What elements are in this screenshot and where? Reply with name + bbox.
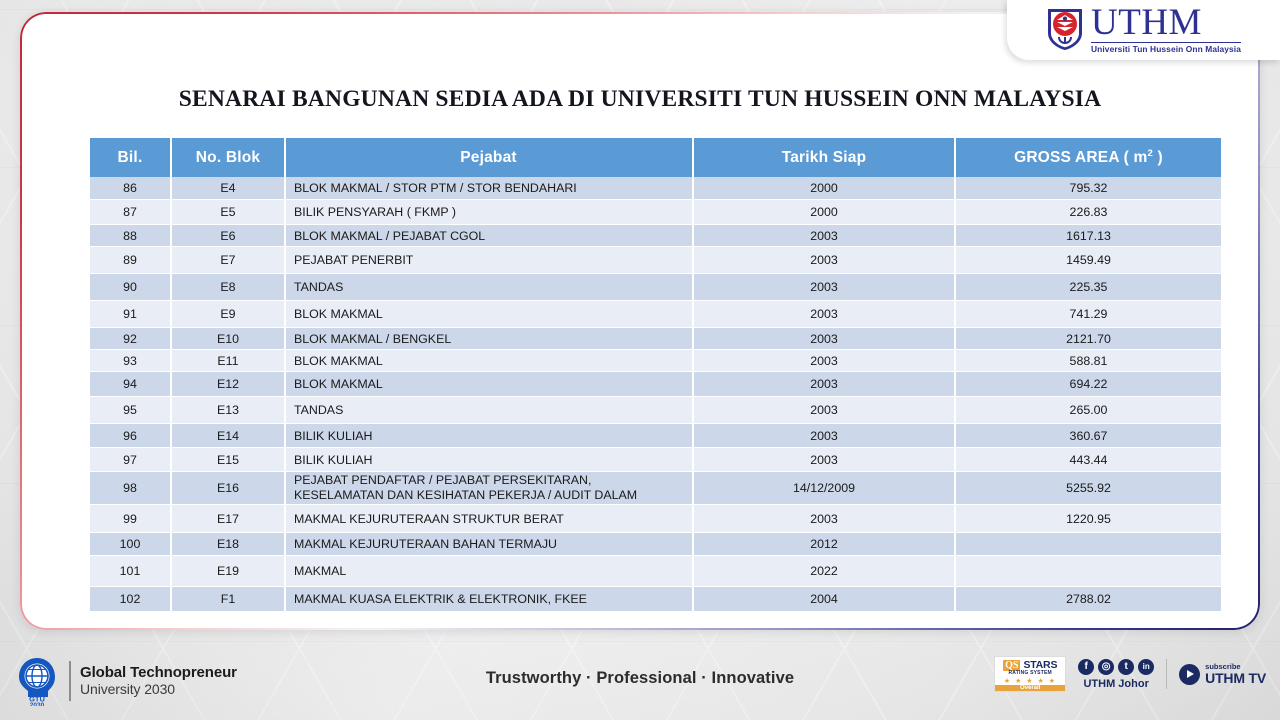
buildings-table: Bil. No. Blok Pejabat Tarikh Siap GROSS … (90, 138, 1221, 612)
cell-bil: 90 (90, 274, 172, 301)
cell-gross-area: 226.83 (956, 200, 1221, 225)
cell-bil: 102 (90, 587, 172, 612)
cell-pejabat: TANDAS (286, 274, 694, 301)
cell-no-blok: E12 (172, 372, 286, 397)
col-header-pejabat: Pejabat (286, 138, 694, 177)
cell-pejabat: BILIK KULIAH (286, 424, 694, 448)
cell-tarikh-siap: 2003 (694, 301, 956, 328)
table-row: 91E9BLOK MAKMAL2003741.29 (90, 301, 1221, 328)
cell-gross-area: 694.22 (956, 372, 1221, 397)
cell-no-blok: E14 (172, 424, 286, 448)
cell-bil: 98 (90, 472, 172, 505)
svg-text:2030: 2030 (30, 702, 45, 706)
cell-gross-area: 225.35 (956, 274, 1221, 301)
uthm-full-name: Universiti Tun Hussein Onn Malaysia (1091, 45, 1241, 53)
facebook-icon[interactable]: f (1078, 659, 1094, 675)
table-row: 94E12BLOK MAKMAL2003694.22 (90, 372, 1221, 397)
page-title: SENARAI BANGUNAN SEDIA ADA DI UNIVERSITI… (20, 86, 1260, 113)
cell-no-blok: E16 (172, 472, 286, 505)
slide-deck-background: SENARAI BANGUNAN SEDIA ADA DI UNIVERSITI… (0, 0, 1280, 720)
cell-tarikh-siap: 2003 (694, 225, 956, 247)
cell-bil: 96 (90, 424, 172, 448)
uthm-wordmark: UTHM (1091, 4, 1241, 41)
cell-pejabat: MAKMAL KEJURUTERAAN BAHAN TERMAJU (286, 533, 694, 556)
cell-gross-area: 5255.92 (956, 472, 1221, 505)
uthm-divider (1091, 42, 1241, 43)
col-header-tarikh-siap: Tarikh Siap (694, 138, 956, 177)
cell-gross-area: 1459.49 (956, 247, 1221, 274)
cell-pejabat: MAKMAL (286, 556, 694, 587)
slide-card: SENARAI BANGUNAN SEDIA ADA DI UNIVERSITI… (20, 12, 1260, 630)
cell-bil: 97 (90, 448, 172, 472)
cell-pejabat: BLOK MAKMAL / PEJABAT CGOL (286, 225, 694, 247)
cell-no-blok: E8 (172, 274, 286, 301)
cell-tarikh-siap: 2003 (694, 448, 956, 472)
cell-pejabat: BLOK MAKMAL (286, 301, 694, 328)
cell-tarikh-siap: 2003 (694, 328, 956, 350)
cell-no-blok: E11 (172, 350, 286, 372)
cell-gross-area: 2121.70 (956, 328, 1221, 350)
table-row: 101E19MAKMAL2022 (90, 556, 1221, 587)
uthm-logo-plate: UTHM Universiti Tun Hussein Onn Malaysia (1007, 0, 1280, 60)
cell-tarikh-siap: 2012 (694, 533, 956, 556)
cell-pejabat: MAKMAL KEJURUTERAAN STRUKTUR BERAT (286, 505, 694, 533)
table-row: 99E17MAKMAL KEJURUTERAAN STRUKTUR BERAT2… (90, 505, 1221, 533)
cell-pejabat: BLOK MAKMAL / STOR PTM / STOR BENDAHARI (286, 177, 694, 200)
buildings-table-wrapper: Bil. No. Blok Pejabat Tarikh Siap GROSS … (90, 138, 1212, 612)
instagram-icon[interactable]: ◎ (1098, 659, 1114, 675)
cell-gross-area: 443.44 (956, 448, 1221, 472)
uthm-tv-block[interactable]: subscribe UTHM TV (1179, 663, 1266, 686)
cell-pejabat: BLOK MAKMAL (286, 372, 694, 397)
table-row: 95E13TANDAS2003265.00 (90, 397, 1221, 424)
social-handle-label: UTHM Johor (1083, 678, 1148, 690)
qs-star-glyphs: ★ ★ ★ ★ ★ (1004, 677, 1057, 685)
cell-no-blok: E19 (172, 556, 286, 587)
cell-no-blok: E6 (172, 225, 286, 247)
cell-no-blok: F1 (172, 587, 286, 612)
cell-gross-area: 1220.95 (956, 505, 1221, 533)
table-body: 86E4BLOK MAKMAL / STOR PTM / STOR BENDAH… (90, 177, 1221, 612)
cell-no-blok: E17 (172, 505, 286, 533)
cell-gross-area (956, 556, 1221, 587)
cell-tarikh-siap: 2003 (694, 505, 956, 533)
cell-gross-area: 741.29 (956, 301, 1221, 328)
table-header: Bil. No. Blok Pejabat Tarikh Siap GROSS … (90, 138, 1221, 177)
cell-tarikh-siap: 2003 (694, 372, 956, 397)
cell-no-blok: E13 (172, 397, 286, 424)
cell-no-blok: E15 (172, 448, 286, 472)
linkedin-icon[interactable]: in (1138, 659, 1154, 675)
uthm-tv-label: UTHM TV (1205, 671, 1266, 686)
gross-area-label: GROSS AREA ( m2 ) (1014, 149, 1163, 166)
table-row: 86E4BLOK MAKMAL / STOR PTM / STOR BENDAH… (90, 177, 1221, 200)
cell-tarikh-siap: 2000 (694, 177, 956, 200)
qs-overall-label: Overall (995, 685, 1065, 691)
cell-tarikh-siap: 2003 (694, 397, 956, 424)
cell-no-blok: E10 (172, 328, 286, 350)
cell-gross-area: 1617.13 (956, 225, 1221, 247)
cell-bil: 91 (90, 301, 172, 328)
uthm-shield-icon (1046, 7, 1084, 51)
cell-gross-area: 588.81 (956, 350, 1221, 372)
cell-bil: 100 (90, 533, 172, 556)
footer-divider (1166, 659, 1167, 689)
qs-rating-system-label: RATING SYSTEM (1009, 670, 1052, 676)
cell-bil: 93 (90, 350, 172, 372)
table-row: 90E8TANDAS2003225.35 (90, 274, 1221, 301)
cell-pejabat: TANDAS (286, 397, 694, 424)
cell-tarikh-siap: 2004 (694, 587, 956, 612)
cell-bil: 99 (90, 505, 172, 533)
cell-pejabat: MAKMAL KUASA ELEKTRIK & ELEKTRONIK, FKEE (286, 587, 694, 612)
cell-bil: 86 (90, 177, 172, 200)
cell-tarikh-siap: 2003 (694, 247, 956, 274)
cell-pejabat: BLOK MAKMAL (286, 350, 694, 372)
cell-tarikh-siap: 14/12/2009 (694, 472, 956, 505)
cell-tarikh-siap: 2003 (694, 424, 956, 448)
table-row: 89E7PEJABAT PENERBIT20031459.49 (90, 247, 1221, 274)
qs-stars-badge: QS STARS RATING SYSTEM ★ ★ ★ ★ ★ Overall (994, 656, 1066, 692)
cell-no-blok: E4 (172, 177, 286, 200)
cell-bil: 89 (90, 247, 172, 274)
cell-pejabat: BILIK KULIAH (286, 448, 694, 472)
table-row: 96E14BILIK KULIAH2003360.67 (90, 424, 1221, 448)
cell-bil: 87 (90, 200, 172, 225)
twitter-icon[interactable]: t (1118, 659, 1134, 675)
cell-bil: 88 (90, 225, 172, 247)
table-row: 87E5BILIK PENSYARAH ( FKMP )2000226.83 (90, 200, 1221, 225)
cell-tarikh-siap: 2022 (694, 556, 956, 587)
table-header-row: Bil. No. Blok Pejabat Tarikh Siap GROSS … (90, 138, 1221, 177)
cell-bil: 95 (90, 397, 172, 424)
cell-tarikh-siap: 2003 (694, 350, 956, 372)
table-row: 93E11BLOK MAKMAL2003588.81 (90, 350, 1221, 372)
cell-pejabat: BLOK MAKMAL / BENGKEL (286, 328, 694, 350)
slide-footer: GTU 2030 Global Technopreneur University… (0, 642, 1280, 720)
cell-pejabat: PEJABAT PENERBIT (286, 247, 694, 274)
cell-gross-area: 795.32 (956, 177, 1221, 200)
col-header-no-blok: No. Blok (172, 138, 286, 177)
cell-pejabat: BILIK PENSYARAH ( FKMP ) (286, 200, 694, 225)
table-row: 97E15BILIK KULIAH2003443.44 (90, 448, 1221, 472)
cell-bil: 92 (90, 328, 172, 350)
table-row: 102F1MAKMAL KUASA ELEKTRIK & ELEKTRONIK,… (90, 587, 1221, 612)
col-header-bil: Bil. (90, 138, 172, 177)
cell-gross-area: 2788.02 (956, 587, 1221, 612)
social-icons: f ◎ t in (1078, 659, 1154, 675)
cell-tarikh-siap: 2000 (694, 200, 956, 225)
cell-no-blok: E7 (172, 247, 286, 274)
footer-right-marks: QS STARS RATING SYSTEM ★ ★ ★ ★ ★ Overall… (994, 656, 1266, 692)
social-block: f ◎ t in UTHM Johor (1078, 659, 1154, 690)
cell-no-blok: E5 (172, 200, 286, 225)
cell-pejabat: PEJABAT PENDAFTAR / PEJABAT PERSEKITARAN… (286, 472, 694, 505)
col-header-gross-area: GROSS AREA ( m2 ) (956, 138, 1221, 177)
table-row: 92E10BLOK MAKMAL / BENGKEL20032121.70 (90, 328, 1221, 350)
qs-mark: QS (1003, 660, 1020, 671)
cell-gross-area: 360.67 (956, 424, 1221, 448)
cell-bil: 94 (90, 372, 172, 397)
cell-bil: 101 (90, 556, 172, 587)
table-row: 98E16PEJABAT PENDAFTAR / PEJABAT PERSEKI… (90, 472, 1221, 505)
cell-no-blok: E9 (172, 301, 286, 328)
cell-tarikh-siap: 2003 (694, 274, 956, 301)
table-row: 88E6BLOK MAKMAL / PEJABAT CGOL20031617.1… (90, 225, 1221, 247)
cell-gross-area (956, 533, 1221, 556)
cell-no-blok: E18 (172, 533, 286, 556)
youtube-play-icon[interactable] (1179, 664, 1200, 685)
table-row: 100E18MAKMAL KEJURUTERAAN BAHAN TERMAJU2… (90, 533, 1221, 556)
cell-gross-area: 265.00 (956, 397, 1221, 424)
